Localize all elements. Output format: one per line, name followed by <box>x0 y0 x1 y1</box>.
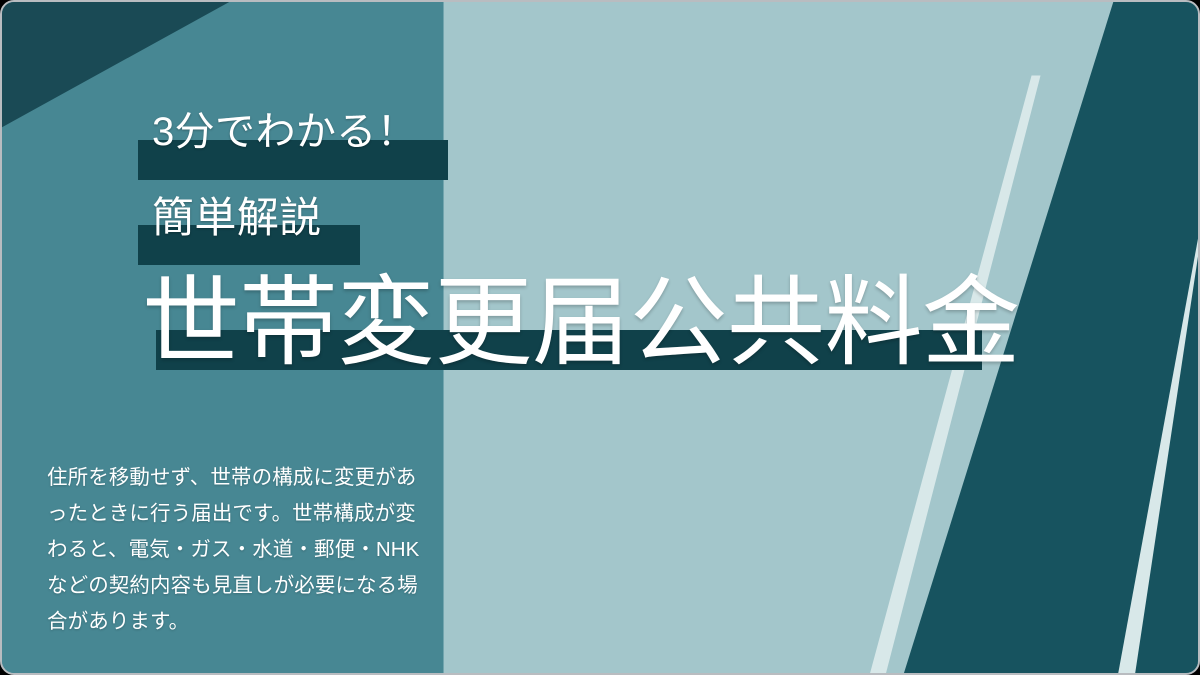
eyebrow-badge-duration: 3分でわかる！ <box>138 106 417 158</box>
headline-block: 世帯変更届公共料金 <box>142 270 1020 374</box>
eyebrow-label-explainer: 簡単解説 <box>138 191 322 245</box>
slide-content: 3分でわかる！ 簡単解説 世帯変更届公共料金 住所を移動せず、世帯の構成に変更が… <box>2 2 1198 673</box>
eyebrow-label-duration: 3分でわかる！ <box>138 106 417 158</box>
eyebrow-badge-explainer: 簡単解説 <box>138 191 322 245</box>
body-paragraph: 住所を移動せず、世帯の構成に変更があったときに行う届出です。世帯構成が変わると、… <box>47 460 425 640</box>
page-title: 世帯変更届公共料金 <box>142 270 1020 374</box>
slide-canvas: 3分でわかる！ 簡単解説 世帯変更届公共料金 住所を移動せず、世帯の構成に変更が… <box>0 0 1200 675</box>
